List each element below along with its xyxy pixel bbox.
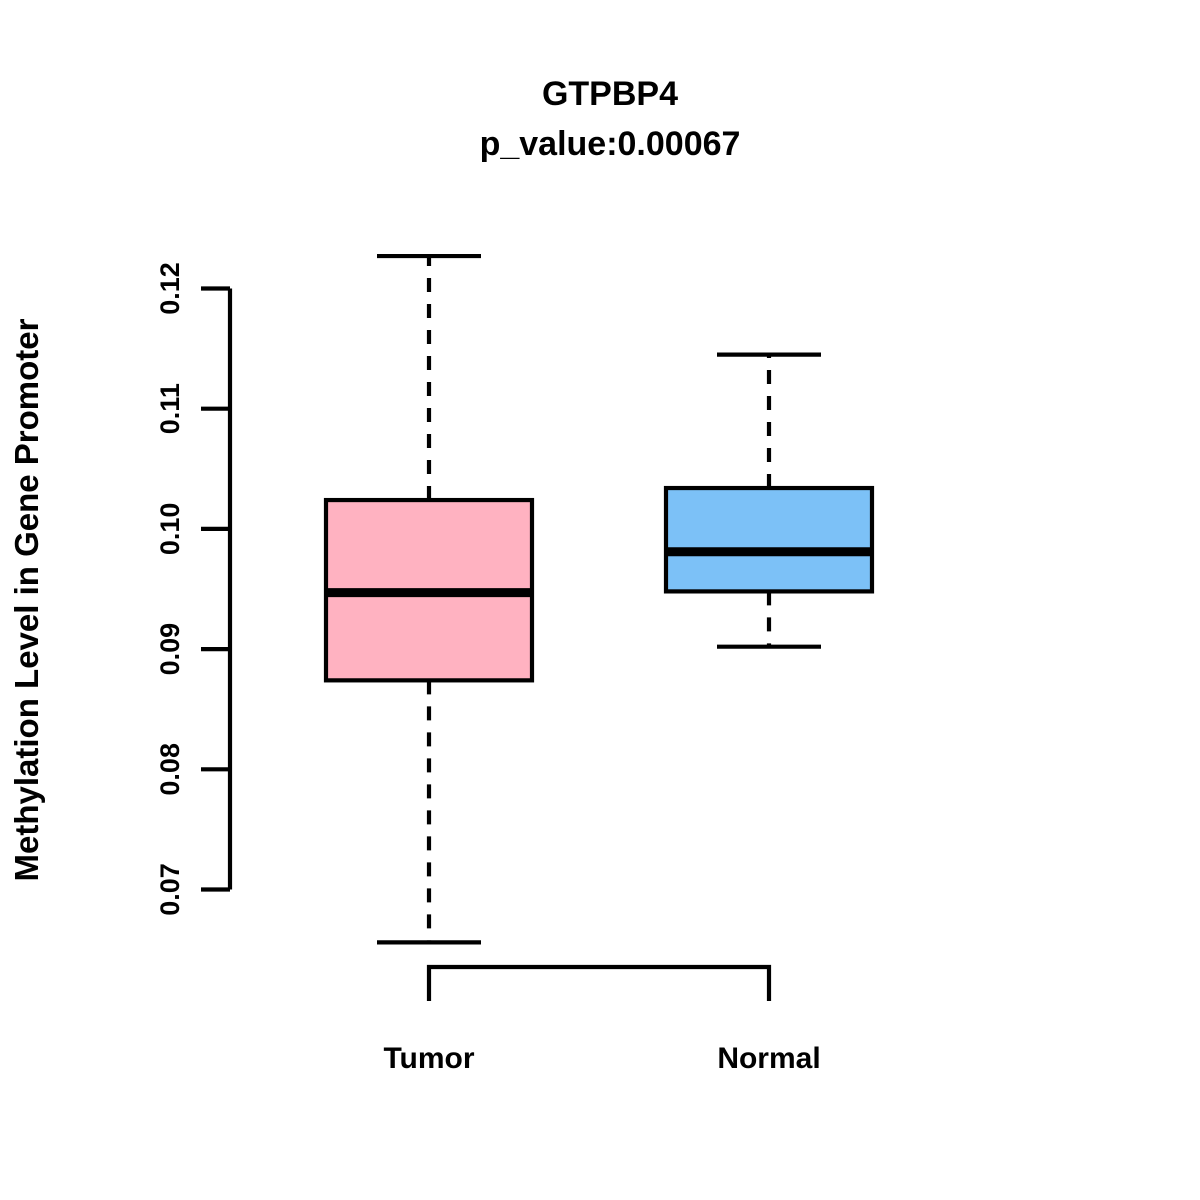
y-axis-tick-label: 0.08 [155, 743, 185, 796]
chart-subtitle: p_value:0.00067 [480, 125, 741, 163]
x-axis-bracket [429, 967, 769, 1001]
chart-title: GTPBP4 [542, 75, 678, 113]
plot-canvas: GTPBP4 p_value:0.00067 Methylation Level… [0, 0, 1200, 1200]
x-axis-tick-label-tumor: Tumor [383, 1042, 474, 1075]
x-axis-tick-label-normal: Normal [717, 1042, 820, 1075]
y-axis-tick-label: 0.10 [155, 503, 185, 556]
x-axis [429, 967, 769, 1001]
y-axis-tick-label: 0.07 [155, 863, 185, 916]
y-axis-tick-label: 0.12 [155, 262, 185, 315]
boxplot-tumor [324, 256, 534, 942]
y-axis-tick-label: 0.11 [155, 383, 185, 434]
boxplot-normal [664, 355, 874, 647]
y-axis [201, 289, 230, 890]
y-axis-tick-labels: 0.070.080.090.100.110.12 [155, 262, 185, 916]
box-series [324, 256, 874, 942]
x-axis-tick-labels: TumorNormal [383, 1042, 820, 1075]
box-iqr [666, 488, 872, 591]
y-axis-tick-label: 0.09 [155, 623, 185, 676]
y-axis-label: Methylation Level in Gene Promoter [8, 318, 45, 881]
boxplot-figure: GTPBP4 p_value:0.00067 Methylation Level… [0, 0, 1200, 1200]
